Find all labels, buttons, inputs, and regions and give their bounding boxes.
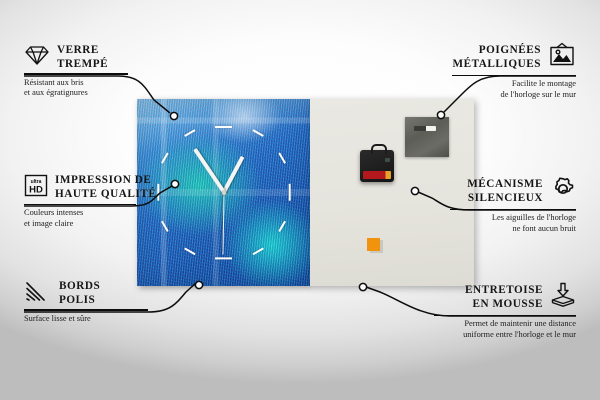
callout-sub-line2: et image claire	[24, 219, 136, 229]
callout-sub-line2: et aux égratignures	[24, 88, 128, 98]
callout-title-line1: BORDS	[59, 280, 100, 294]
callout-sub-line2: ne font aucun bruit	[450, 224, 576, 234]
infographic-canvas: VERRE TREMPÉ Résistant aux bris et aux é…	[0, 0, 600, 400]
movement-label	[385, 158, 390, 162]
callout-title-line2: POLIS	[59, 294, 100, 308]
callout-bords-polis[interactable]: BORDS POLIS Surface lisse et sûre	[24, 280, 148, 324]
clock-tick	[252, 247, 264, 255]
clock-tick	[184, 130, 196, 138]
metal-hanger-bracket	[405, 117, 449, 157]
picture-hanger-icon	[548, 42, 576, 73]
callout-mecanisme-silencieux[interactable]: MÉCANISME SILENCIEUX Les aiguilles de l'…	[450, 176, 576, 234]
callout-rule	[434, 315, 576, 316]
callout-poignees-metalliques[interactable]: POIGNÉES MÉTALLIQUES Facilite le montage…	[452, 42, 576, 100]
callout-rule	[24, 309, 148, 310]
callout-title-line2: MÉTALLIQUES	[452, 58, 541, 72]
clock-tick	[184, 247, 196, 255]
svg-text:HD: HD	[29, 185, 43, 196]
clock-tick	[157, 184, 159, 201]
callout-title-line2: SILENCIEUX	[467, 192, 543, 206]
callout-title-line1: VERRE	[57, 44, 108, 58]
clock-tick	[161, 221, 169, 233]
bracket-slot	[414, 126, 436, 131]
callout-title-line1: ENTRETOISE	[465, 284, 543, 298]
movement-hook	[371, 144, 387, 154]
callout-title-line2: EN MOUSSE	[465, 298, 543, 312]
clock-tick	[252, 130, 264, 138]
callout-impression-haute-qualite[interactable]: ultra HD IMPRESSION DE HAUTE QUALITÉ Cou…	[24, 174, 136, 229]
clock-tick	[278, 221, 286, 233]
clock-face	[137, 99, 310, 286]
callout-sub-line1: Résistant aux bris	[24, 78, 128, 88]
callout-title-line1: IMPRESSION DE	[55, 174, 156, 188]
callout-rule	[24, 73, 128, 74]
callout-sub-line2: uniforme entre l'horloge et le mur	[434, 330, 576, 340]
callout-verre-trempe[interactable]: VERRE TREMPÉ Résistant aux bris et aux é…	[24, 44, 128, 98]
callout-sub-line2: de l'horloge sur le mur	[452, 90, 576, 100]
callout-title-line2: HAUTE QUALITÉ	[55, 188, 156, 202]
callout-title-line2: TREMPÉ	[57, 58, 108, 72]
clock-tick	[288, 184, 290, 201]
callout-sub-line1: Surface lisse et sûre	[24, 314, 148, 324]
clock-tick	[278, 153, 286, 165]
clock-tick	[215, 257, 232, 259]
callout-sub-line1: Permet de maintenir une distance	[434, 319, 576, 329]
gear-icon	[550, 176, 576, 207]
foam-spacer	[367, 238, 380, 251]
clock-center-cap	[222, 191, 226, 195]
foam-spacer-icon	[550, 282, 576, 313]
diamond-icon	[24, 44, 50, 71]
clock-tick	[215, 126, 232, 128]
second-hand	[222, 192, 224, 254]
battery	[363, 171, 391, 179]
quartz-movement-box	[360, 150, 394, 182]
callout-rule	[450, 209, 576, 210]
callout-title-line1: POIGNÉES	[452, 44, 541, 58]
callout-entretoise-en-mousse[interactable]: ENTRETOISE EN MOUSSE Permet de maintenir…	[434, 282, 576, 340]
hour-hand	[222, 156, 244, 193]
callout-sub-line1: Les aiguilles de l'horloge	[450, 213, 576, 223]
callout-sub-line1: Facilite le montage	[452, 79, 576, 89]
polished-edge-icon	[24, 280, 52, 307]
product-photo	[137, 99, 474, 286]
callout-rule	[452, 75, 576, 76]
callout-sub-line1: Couleurs intenses	[24, 208, 136, 218]
clock-tick	[161, 153, 169, 165]
callout-title-line1: MÉCANISME	[467, 178, 543, 192]
ultra-hd-icon: ultra HD	[24, 174, 48, 202]
minute-hand	[193, 148, 226, 193]
callout-rule	[24, 204, 136, 205]
